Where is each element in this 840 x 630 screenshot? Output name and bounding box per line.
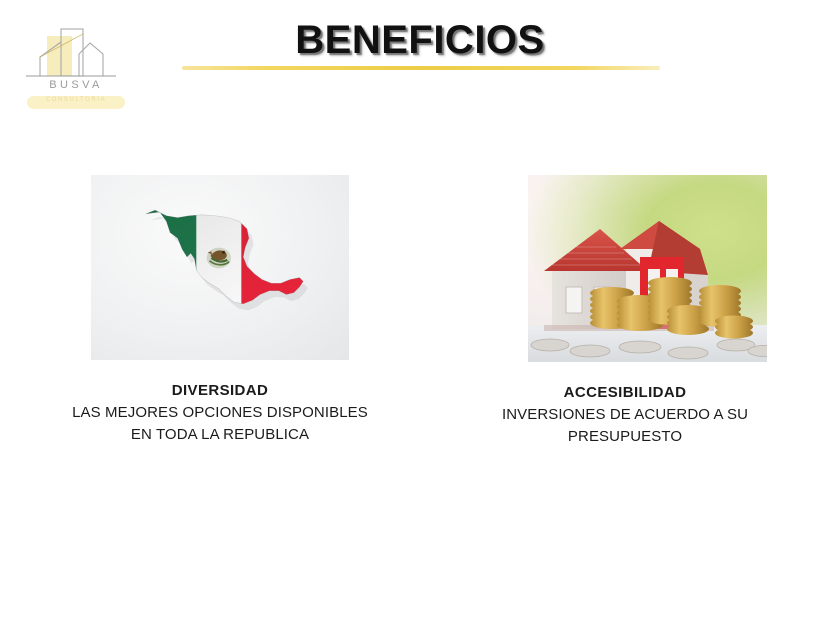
caption-line-1: LAS MEJORES OPCIONES DISPONIBLES <box>30 402 410 425</box>
caption-diversidad: DIVERSIDAD LAS MEJORES OPCIONES DISPONIB… <box>30 380 410 447</box>
page-title: BENEFICIOS <box>170 18 670 63</box>
logo-wordmark: BUSVA <box>24 79 128 91</box>
house-and-coins-illustration <box>528 175 767 362</box>
building-outline-icon <box>24 24 128 84</box>
busva-logo[interactable]: BUSVA CONSULTORIA <box>24 24 128 124</box>
caption-heading: DIVERSIDAD <box>30 380 410 402</box>
caption-line-2: EN TODA LA REPUBLICA <box>30 424 410 447</box>
caption-heading: ACCESIBILIDAD <box>440 382 810 404</box>
title-underline-rule <box>182 66 660 70</box>
mexico-map-shape <box>122 197 323 338</box>
mexico-map-flag-photo <box>91 175 349 360</box>
slide-canvas: BUSVA CONSULTORIA BENEFICIOS <box>0 0 840 630</box>
caption-line-1: INVERSIONES DE ACUERDO A SU <box>440 404 810 427</box>
logo-tagline: CONSULTORIA <box>24 97 128 103</box>
caption-line-2: PRESUPUESTO <box>440 426 810 449</box>
caption-accesibilidad: ACCESIBILIDAD INVERSIONES DE ACUERDO A S… <box>440 382 810 449</box>
house-coins-photo <box>528 175 767 362</box>
